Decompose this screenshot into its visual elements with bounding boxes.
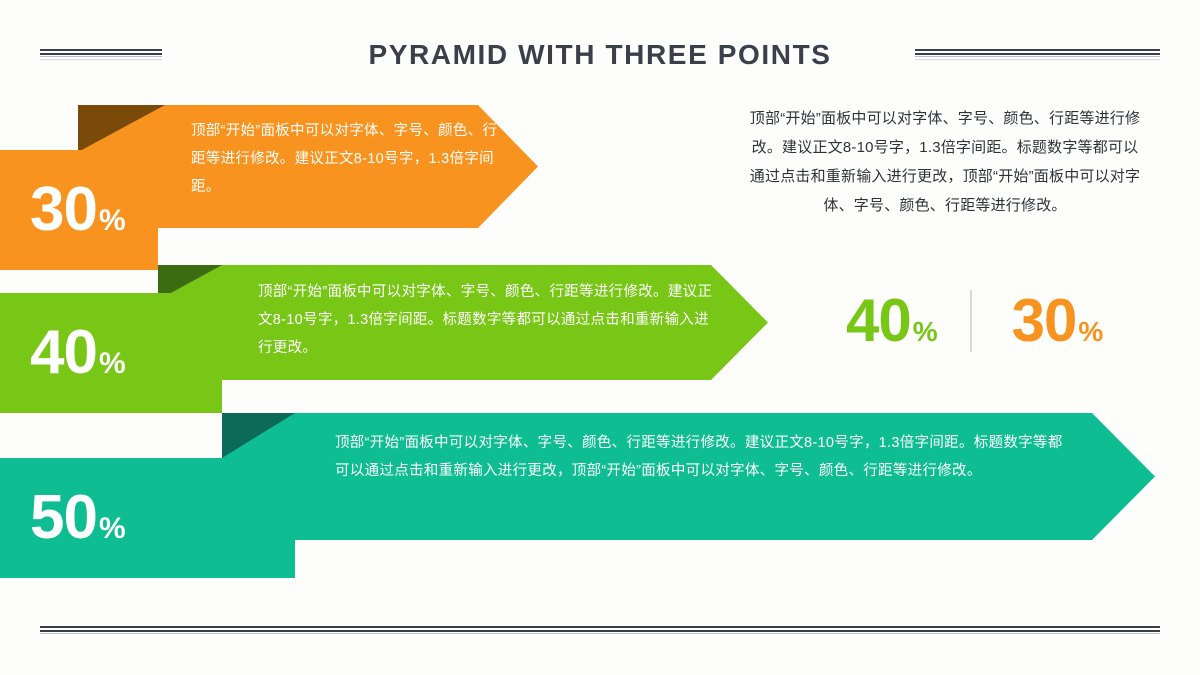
- header-rule-right: [915, 49, 1160, 61]
- band-teal-value: 50 %: [30, 487, 126, 549]
- band-teal-text: 顶部“开始”面板中可以对字体、字号、颜色、行距等进行修改。建议正文8-10号字，…: [335, 429, 1065, 485]
- band-teal-arrow: 顶部“开始”面板中可以对字体、字号、颜色、行距等进行修改。建议正文8-10号字，…: [222, 413, 1155, 540]
- side-stat-orange: 30 %: [1012, 291, 1104, 351]
- rule-line: [915, 59, 1160, 60]
- band-orange-fold-icon: [78, 105, 165, 152]
- band-orange-number: 30: [30, 179, 97, 241]
- rule-line: [40, 626, 1160, 628]
- side-stats: 40 % 30 %: [830, 282, 1160, 360]
- band-orange-percent-symbol: %: [99, 206, 126, 236]
- footer-rule: [40, 626, 1160, 636]
- band-teal-value-block: 50 %: [0, 458, 295, 578]
- band-teal-percent-symbol: %: [99, 514, 126, 544]
- side-stat-orange-percent-symbol: %: [1078, 318, 1103, 346]
- side-stat-green-percent-symbol: %: [913, 318, 938, 346]
- rule-line: [915, 56, 1160, 57]
- band-green-value: 40 %: [30, 322, 126, 384]
- rule-line: [40, 630, 1160, 632]
- side-stat-orange-number: 30: [1012, 291, 1077, 351]
- band-orange-value-block: 30 %: [0, 150, 158, 270]
- band-green-number: 40: [30, 322, 97, 384]
- band-green-value-block: 40 %: [0, 293, 222, 413]
- band-orange-value: 30 %: [30, 179, 126, 241]
- rule-line: [40, 633, 1160, 634]
- band-teal-number: 50: [30, 487, 97, 549]
- slide-canvas: PYRAMID WITH THREE POINTS 顶部“开始”面板中可以对字体…: [0, 0, 1200, 675]
- band-green-arrow: 顶部“开始”面板中可以对字体、字号、颜色、行距等进行修改。建议正文8-10号字，…: [158, 265, 768, 380]
- side-stats-divider: [970, 290, 972, 352]
- side-stat-green: 40 %: [846, 291, 938, 351]
- side-paragraph: 顶部“开始”面板中可以对字体、字号、颜色、行距等进行修改。建议正文8-10号字，…: [745, 104, 1145, 220]
- slide-header: PYRAMID WITH THREE POINTS: [0, 16, 1200, 72]
- band-green-text: 顶部“开始”面板中可以对字体、字号、颜色、行距等进行修改。建议正文8-10号字，…: [258, 278, 713, 362]
- rule-line: [915, 49, 1160, 51]
- band-orange-text: 顶部“开始”面板中可以对字体、字号、颜色、行距等进行修改。建议正文8-10号字，…: [191, 117, 511, 201]
- band-green-percent-symbol: %: [99, 349, 126, 379]
- side-stat-green-number: 40: [846, 291, 911, 351]
- rule-line: [915, 53, 1160, 55]
- band-teal-fold-icon: [222, 413, 295, 458]
